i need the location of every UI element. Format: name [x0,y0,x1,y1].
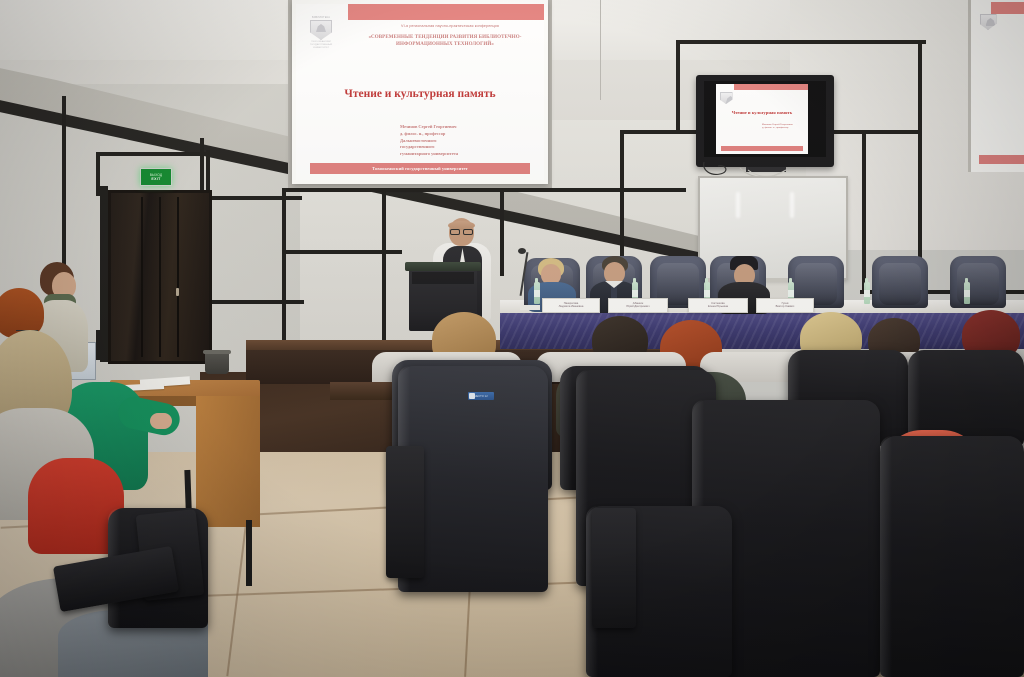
glasses-icon [450,229,473,233]
name-placard: Панкратова Людмила Ивановна [542,298,600,313]
wall-groove [206,196,302,200]
second-slide-emblem-icon [977,12,999,42]
emblem-shield-icon [310,20,332,40]
slide-author-block: Мезинов Сергей Георгиевич д. филос. н., … [400,124,536,158]
author-org-line2: государственного [400,144,536,151]
placard-name: Абанкин Юрий Дмитриевич [626,303,649,309]
author-name: Мезинов Сергей Георгиевич [400,124,536,131]
slide-accent-bar [348,4,544,20]
presentation-slide: БИБЛИОТЕКА ТИХООКЕАНСКИЙ ГОСУДАРСТВЕННЫЙ… [296,4,544,180]
auditorium-chair[interactable] [880,436,1024,677]
projection-screen: БИБЛИОТЕКА ТИХООКЕАНСКИЙ ГОСУДАРСТВЕННЫЙ… [292,0,548,184]
wall-groove [862,134,866,294]
wall-groove [282,188,686,192]
slide-conference-line: VI-я региональная научно-практическая ко… [366,24,534,28]
wall-groove [204,300,304,304]
slide-footer-banner: Тихоокеанский государственный университе… [310,163,530,174]
wall-tv-screen: Чтение и культурная память Мезинов Серге… [704,81,826,157]
waste-bin [205,352,229,374]
chair-armrest [386,446,424,578]
desk-leg [246,520,252,586]
author-org-line3: гуманитарного университета [400,151,536,158]
emblem-label: БИБЛИОТЕКА [312,16,330,19]
wall-groove [500,192,504,276]
tv-slide-accent-bar [734,84,808,90]
side-desk-side [196,392,260,527]
presidium-table-front [500,313,1024,349]
seat-badge-icon [469,393,475,399]
author-degree: д. филос. н., профессор [400,131,536,138]
author-org-line1: Дальневосточного [400,138,536,145]
panel-chair[interactable] [950,256,1006,308]
conference-hall-photo: ВЫХОД EXIT БИБЛИОТЕКА ТИХООКЕАНСКИЙ ГОСУ… [0,0,1024,677]
tv-slide-title: Чтение и культурная память [718,110,806,115]
name-placard: Гусев Виктор Саввич [756,298,814,313]
panel-chair[interactable] [872,256,928,308]
wall-groove [282,250,402,254]
podium-top-surface [405,262,481,271]
wall-groove [382,192,386,354]
placard-name: Панкратова Людмила Ивановна [559,303,584,309]
seat-number-badge: МЕСТО 12 [468,392,494,400]
second-projection-screen [968,0,1024,172]
tv-author-degree: д. филос. н., профессор [762,127,805,130]
table-papers [520,305,540,310]
university-emblem-icon: БИБЛИОТЕКА ТИХООКЕАНСКИЙ ГОСУДАРСТВЕННЫЙ… [304,16,338,56]
name-placard: Абанкин Юрий Дмитриевич [608,298,668,313]
tv-emblem-icon [719,91,733,109]
tv-slide-footer [721,146,803,151]
podium-shadow [412,272,474,284]
slide-theme: «СОВРЕМЕННЫЕ ТЕНДЕНЦИИ РАЗВИТИЯ БИБЛИОТЕ… [354,34,536,48]
wall-groove [200,138,204,198]
placard-name: Костюкова Елена Юрьевна [708,303,728,309]
chair-armrest [592,508,636,628]
tv-slide: Чтение и культурная память Мезинов Серге… [716,84,808,154]
water-bottle [864,282,870,304]
wall-groove [676,40,680,132]
water-bottle [964,282,970,304]
placard-name: Гусев Виктор Саввич [776,303,795,309]
audience-hand [150,413,172,429]
slide-footer-text: Тихоокеанский государственный университе… [372,166,468,171]
emblem-sub: ТИХООКЕАНСКИЙ ГОСУДАРСТВЕННЫЙ УНИВЕРСИТЕ… [310,41,332,49]
name-placard: Костюкова Елена Юрьевна [688,298,748,313]
door-frame [100,186,108,362]
wall-groove [676,40,926,44]
waste-bin-rim [203,350,231,354]
microphone-icon [518,248,526,254]
second-slide-footer [979,155,1024,164]
tv-slide-author: Мезинов Сергей Георгиевич д. филос. н., … [762,124,805,131]
wall-groove [282,188,286,354]
exit-sign-icon: ВЫХОД EXIT [140,168,172,186]
seat-badge-text: МЕСТО 12 [474,395,488,398]
slide-title: Чтение и культурная память [300,88,540,101]
door-handle[interactable] [176,288,179,296]
wall-groove [918,40,922,290]
exit-sign-line2: EXIT [151,177,160,181]
water-bottle [534,282,540,304]
wall-groove [96,152,206,156]
ceiling-wire [600,0,601,100]
exit-door[interactable] [108,190,212,364]
